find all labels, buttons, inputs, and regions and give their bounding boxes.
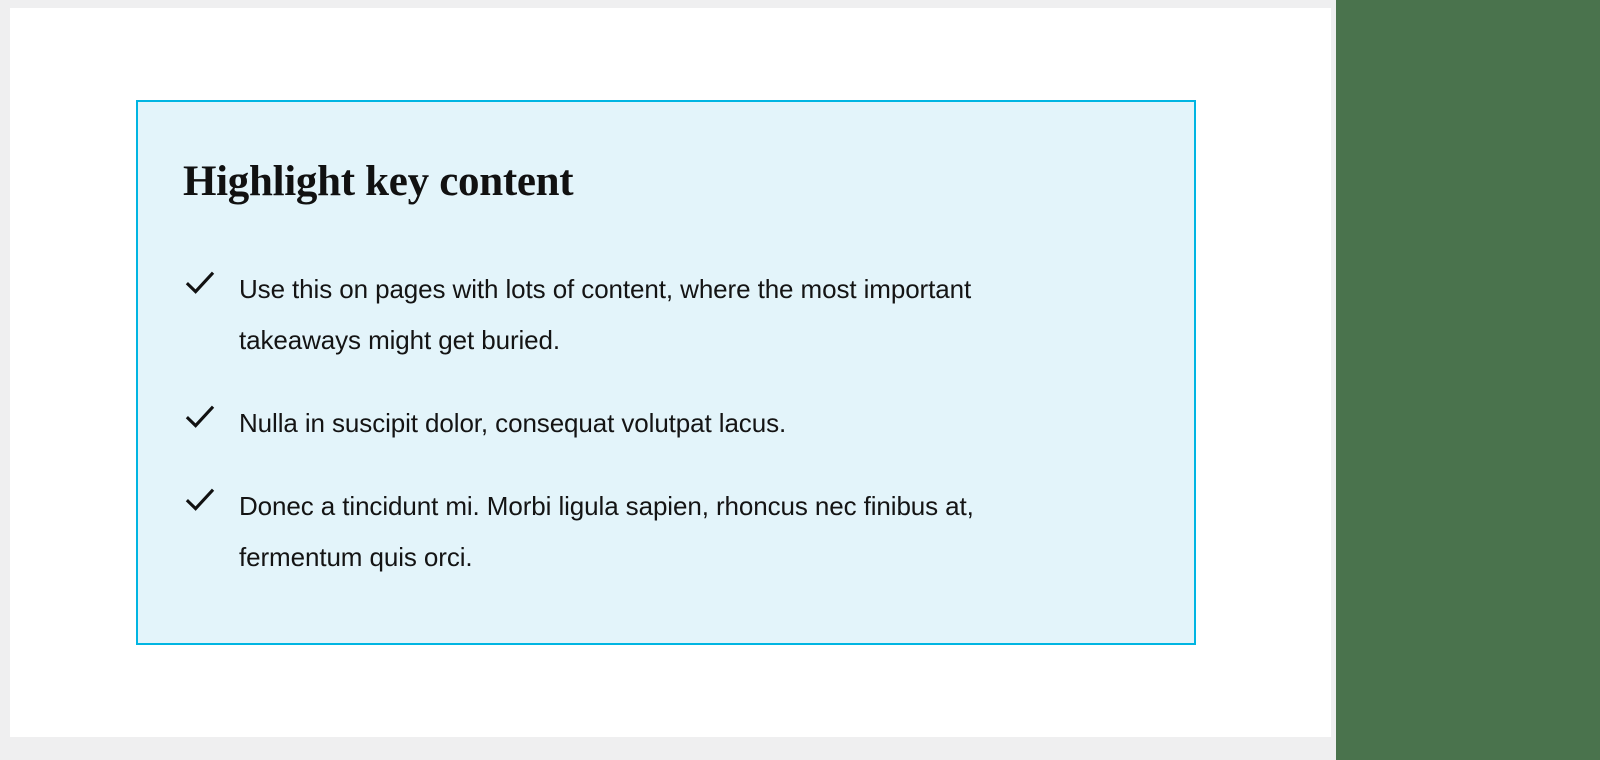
callout-content: Highlight key content Use this on pages … bbox=[138, 102, 1194, 643]
list-item-text: Donec a tincidunt mi. Morbi ligula sapie… bbox=[239, 481, 1039, 583]
list-item-text: Use this on pages with lots of content, … bbox=[239, 264, 1039, 366]
screenshot-canvas: Highlight key content Use this on pages … bbox=[0, 0, 1600, 760]
list-item: Nulla in suscipit dolor, consequat volut… bbox=[183, 398, 1143, 449]
list-item: Use this on pages with lots of content, … bbox=[183, 264, 1143, 366]
document-page: Highlight key content Use this on pages … bbox=[10, 8, 1331, 737]
callout-title: Highlight key content bbox=[183, 158, 573, 206]
list-item-text: Nulla in suscipit dolor, consequat volut… bbox=[239, 398, 1039, 449]
check-icon bbox=[183, 400, 217, 434]
highlight-callout-box: Highlight key content Use this on pages … bbox=[136, 100, 1196, 645]
callout-bullet-list: Use this on pages with lots of content, … bbox=[183, 264, 1143, 583]
list-item: Donec a tincidunt mi. Morbi ligula sapie… bbox=[183, 481, 1143, 583]
check-icon bbox=[183, 266, 217, 300]
check-icon bbox=[183, 483, 217, 517]
right-side-panel bbox=[1336, 0, 1600, 760]
